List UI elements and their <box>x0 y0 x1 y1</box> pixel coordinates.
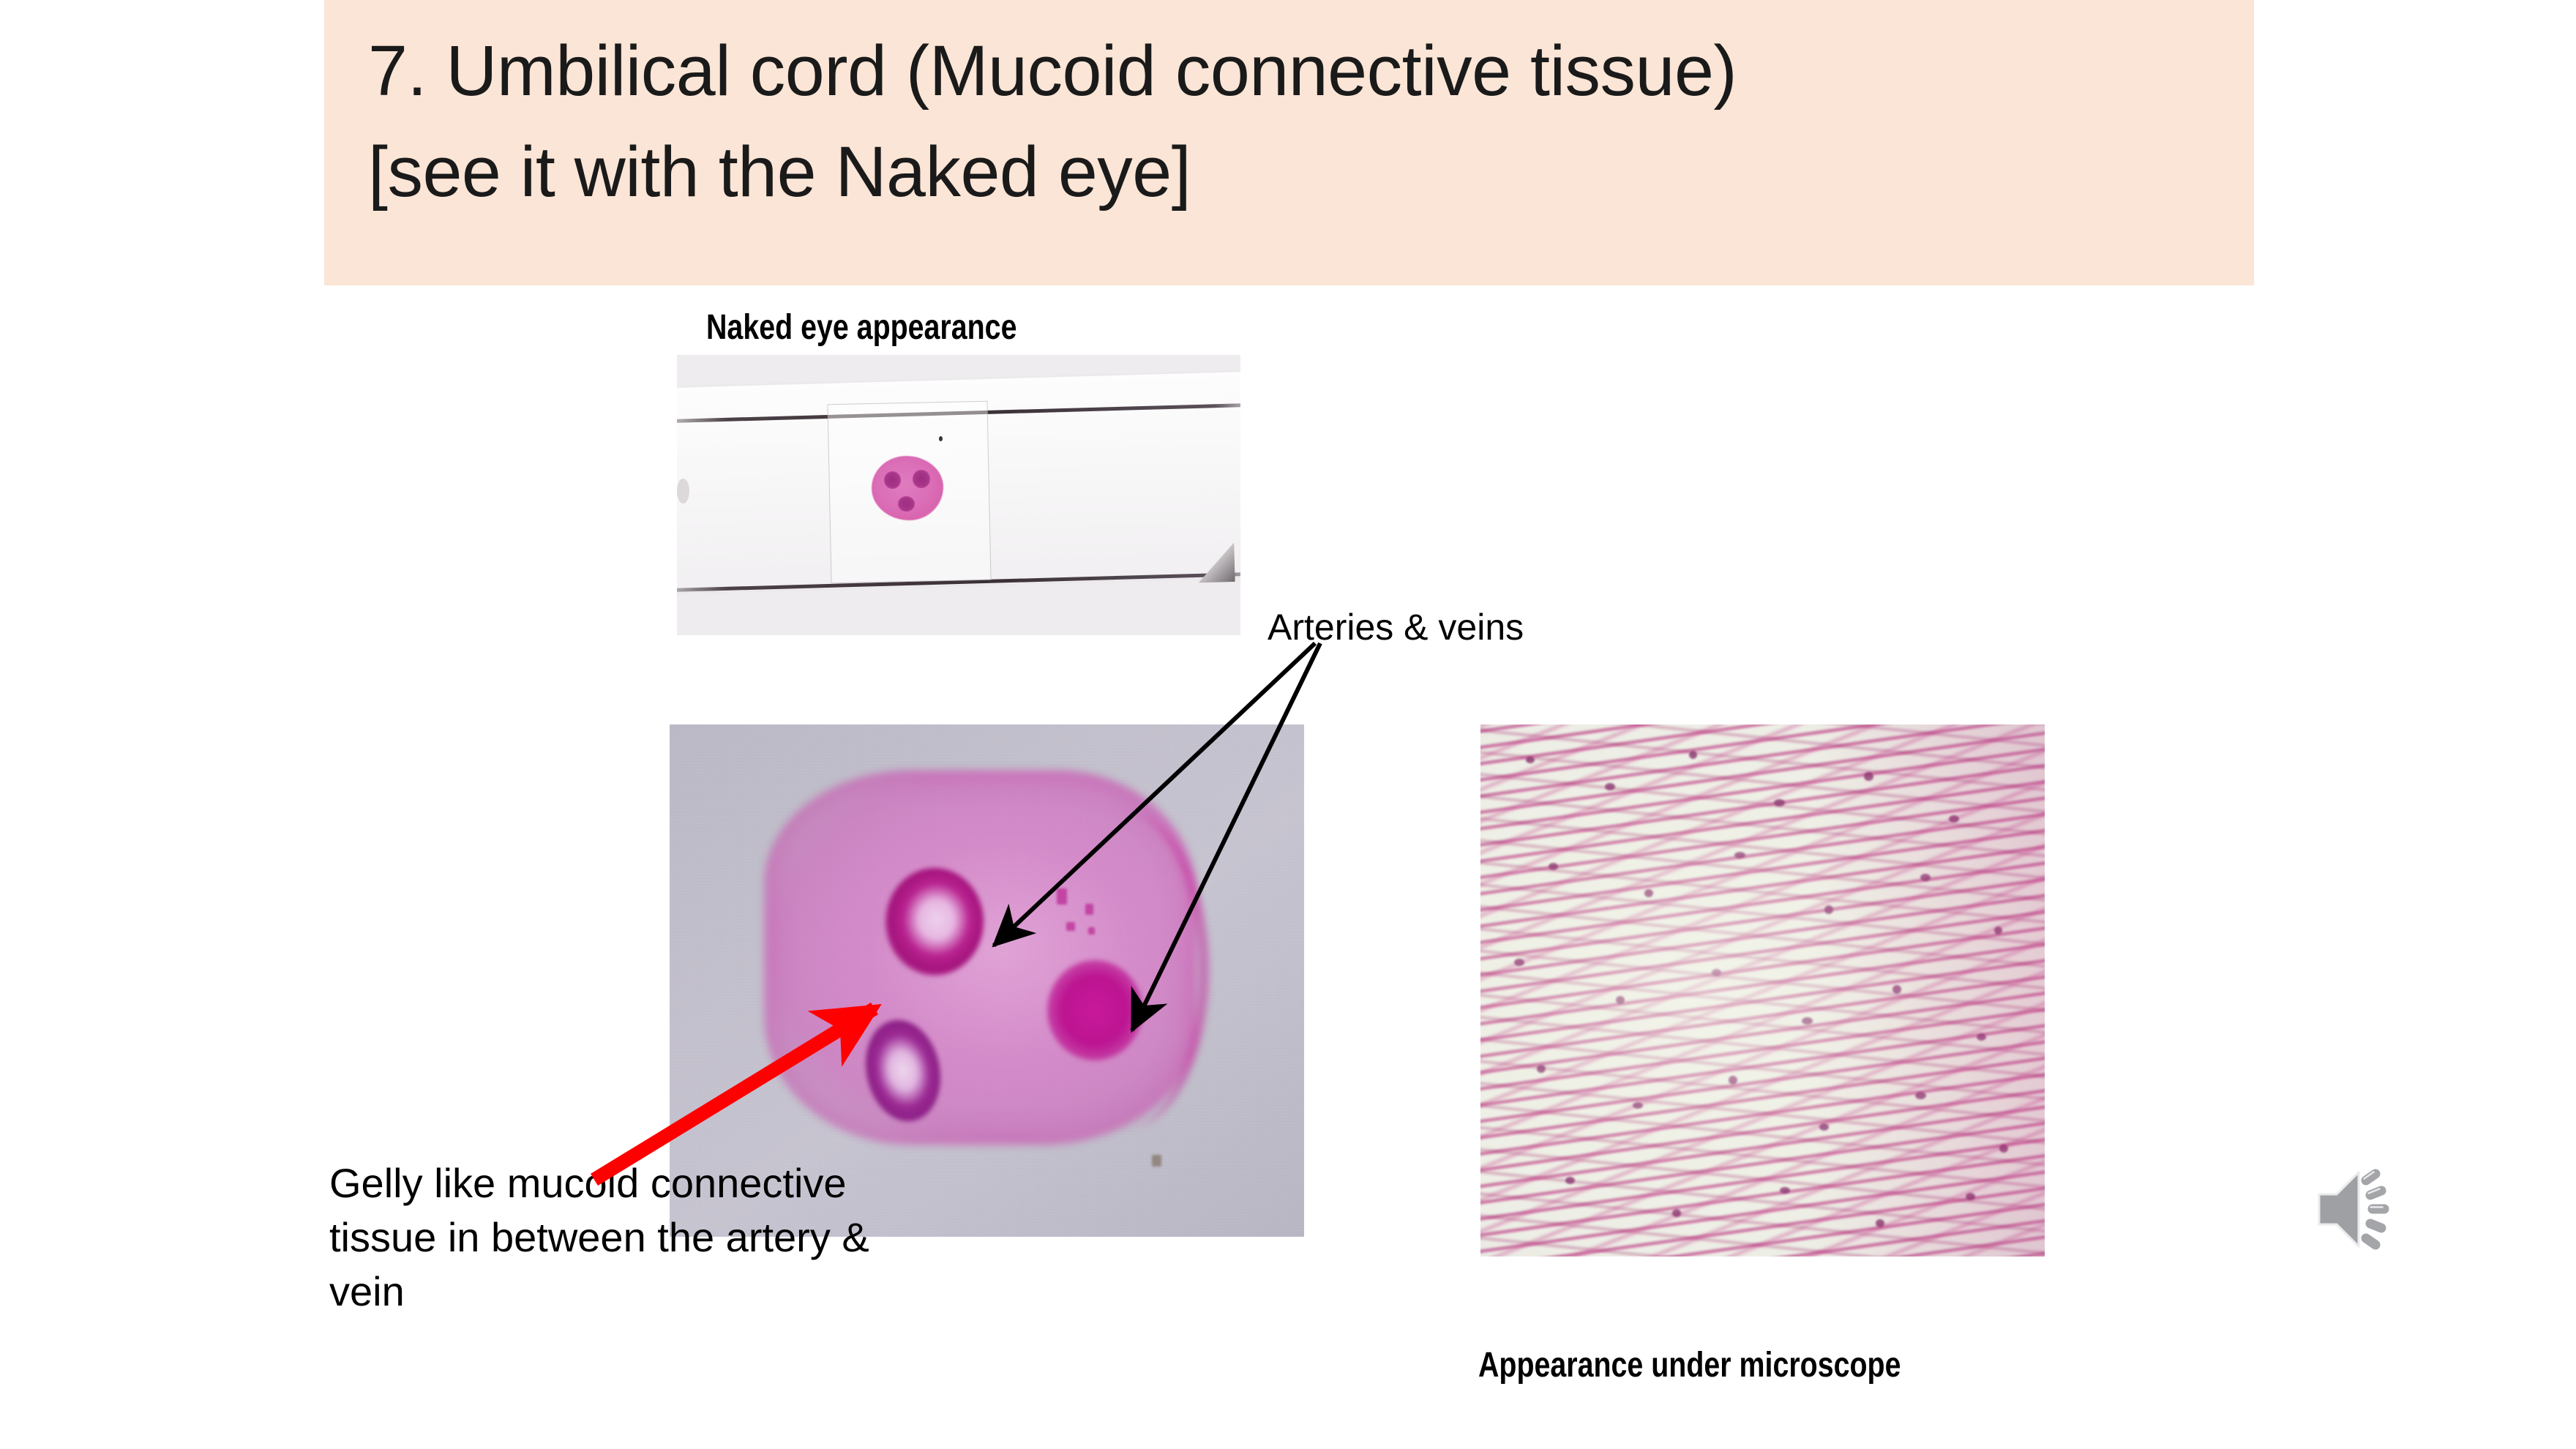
speaker-cone <box>2319 1172 2359 1246</box>
title-line-1: 7. Umbilical cord (Mucoid connective tis… <box>368 20 2254 121</box>
histology-photo <box>1480 724 2045 1257</box>
speaker-sound-waves <box>2366 1174 2384 1245</box>
specimen-fleck-2 <box>1085 904 1093 915</box>
glass-slide-photo <box>677 355 1240 635</box>
slide-canvas: 7. Umbilical cord (Mucoid connective tis… <box>0 0 2576 1449</box>
slide-vessel-2 <box>913 470 930 488</box>
slide-vessel-3 <box>898 496 915 512</box>
slide-title-banner: 7. Umbilical cord (Mucoid connective tis… <box>324 0 2254 285</box>
label-mucoid-connective-tissue: Gelly like mucoid connective tissue in b… <box>329 1156 885 1319</box>
specimen-fleck-3 <box>1066 922 1075 931</box>
umbilical-artery-ring-upper <box>885 868 984 976</box>
slide-vessel-1 <box>884 471 901 489</box>
title-line-2: [see it with the Naked eye] <box>368 121 2254 222</box>
specimen-fleck-4 <box>1088 927 1095 935</box>
speaker-icon[interactable] <box>2316 1156 2437 1262</box>
specimen-fleck-1 <box>1057 888 1067 905</box>
histology-illumination-veil <box>1480 724 2045 1257</box>
glass-slide-left-chip <box>677 479 689 503</box>
specimen-fleck-5 <box>1152 1155 1161 1167</box>
umbilical-vein-filled <box>1047 960 1142 1060</box>
label-arteries-and-veins: Arteries & veins <box>1268 606 1524 649</box>
caption-naked-eye-appearance: Naked eye appearance <box>706 307 1016 348</box>
caption-appearance-under-microscope: Appearance under microscope <box>1478 1345 1901 1385</box>
